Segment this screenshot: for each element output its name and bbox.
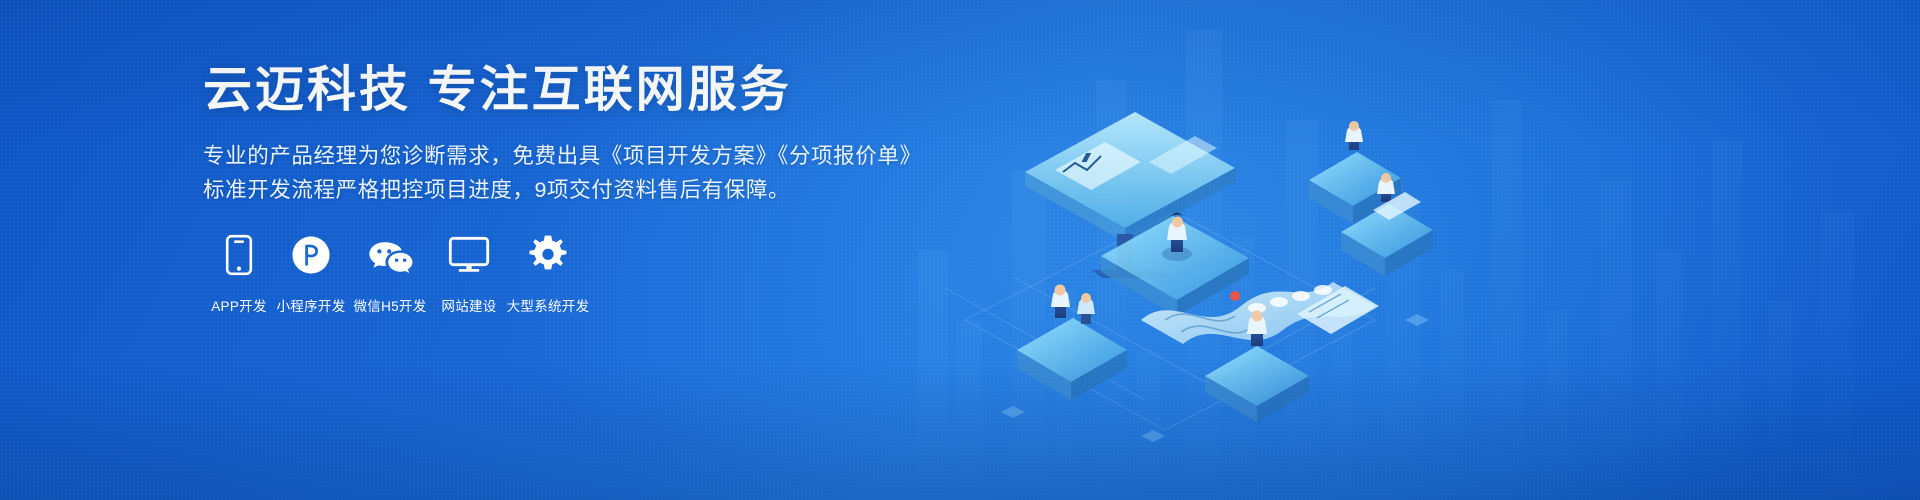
service-item-wechat-h5[interactable]: 微信H5开发 xyxy=(347,232,433,315)
subtitle-line-1: 专业的产品经理为您诊断需求，免费出具《项目开发方案》《分项报价单》 xyxy=(203,139,903,173)
service-label: APP开发 xyxy=(211,295,267,315)
hero-banner: 云迈科技 专注互联网服务 专业的产品经理为您诊断需求，免费出具《项目开发方案》《… xyxy=(0,0,1920,500)
subtitle-line-2: 标准开发流程严格把控项目进度，9项交付资料售后有保障。 xyxy=(203,173,903,207)
service-item-large-system[interactable]: 大型系统开发 xyxy=(505,232,591,315)
isometric-illustration xyxy=(905,20,1465,460)
service-label: 微信H5开发 xyxy=(353,295,426,315)
wechat-icon xyxy=(367,232,413,278)
mini-program-icon xyxy=(291,232,331,278)
monitor-icon xyxy=(448,232,490,278)
service-label: 小程序开发 xyxy=(277,295,346,315)
service-label: 网站建设 xyxy=(441,295,496,315)
service-list: APP开发 小程序开发 微信 xyxy=(203,232,591,315)
gear-icon xyxy=(527,232,569,278)
service-item-mini-program[interactable]: 小程序开发 xyxy=(275,232,347,315)
page-title: 云迈科技 专注互联网服务 xyxy=(203,62,903,120)
service-item-app[interactable]: APP开发 xyxy=(203,232,275,315)
mobile-phone-icon xyxy=(225,232,253,278)
service-label: 大型系统开发 xyxy=(507,295,590,315)
subtitle-block: 专业的产品经理为您诊断需求，免费出具《项目开发方案》《分项报价单》 标准开发流程… xyxy=(203,139,903,207)
service-item-website[interactable]: 网站建设 xyxy=(433,232,505,315)
hero-copy: 云迈科技 专注互联网服务 专业的产品经理为您诊断需求，免费出具《项目开发方案》《… xyxy=(203,62,903,207)
